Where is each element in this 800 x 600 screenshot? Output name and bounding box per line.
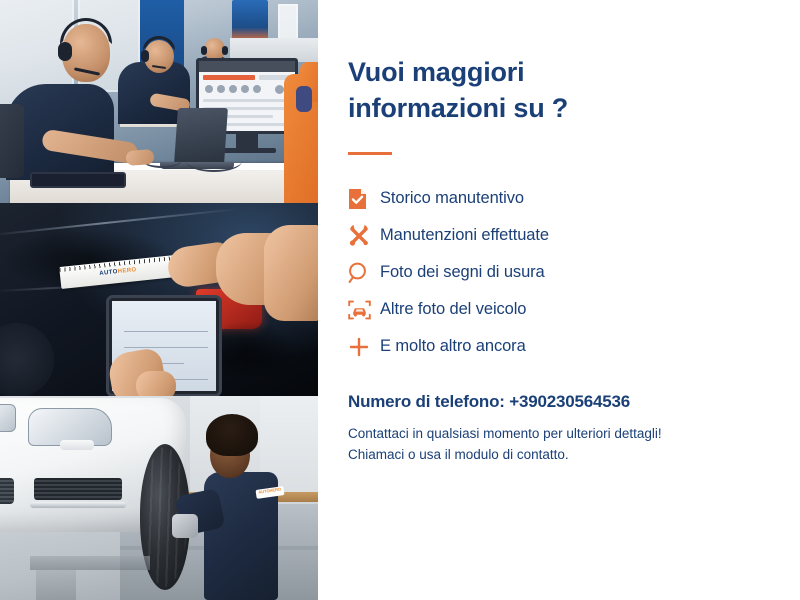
photo-call-center [0,0,318,203]
wrench-screwdriver-icon [348,225,380,247]
heading-divider [348,152,392,155]
photo-garage-tire-inspection: AUTOHERO [0,396,318,600]
photo-column: AUTOHERO [0,0,318,600]
feature-label: E molto altro ancora [380,337,526,356]
feature-label: Altre foto del veicolo [380,300,526,319]
feature-label: Manutenzioni effettuate [380,226,549,245]
content-panel: Vuoi maggiori informazioni su ? Storico … [318,0,800,600]
page-title: Vuoi maggiori informazioni su ? [348,55,648,126]
magnifier-icon [348,262,380,284]
car-photo-frame-icon [348,299,380,321]
feature-list: Storico manutentivo Manutenzi [348,180,768,365]
photo-bumper-inspection: AUTOHERO [0,203,318,396]
feature-item-manutenzioni-effettuate: Manutenzioni effettuate [348,217,768,254]
feature-item-storico-manutentivo: Storico manutentivo [348,180,768,217]
feature-label: Storico manutentivo [380,189,524,208]
feature-item-foto-segni-usura: Foto dei segni di usura [348,254,768,291]
phone-subtitle-line-2: Chiamaci o usa il modulo di contatto. [348,445,768,466]
phone-title: Numero di telefono: +390230564536 [348,392,630,412]
ruler-logo-auto: AUTO [99,269,118,277]
plus-icon [348,336,380,358]
clipboard-check-icon [348,188,380,210]
promo-banner: AUTOHERO [0,0,800,600]
feature-item-molto-altro: E molto altro ancora [348,328,768,365]
ruler-logo-hero: HERO [117,267,136,275]
phone-subtitle: Contattaci in qualsiasi momento per ulte… [348,424,768,466]
feature-label: Foto dei segni di usura [380,263,545,282]
feature-item-altre-foto-veicolo: Altre foto del veicolo [348,291,768,328]
phone-subtitle-line-1: Contattaci in qualsiasi momento per ulte… [348,424,768,445]
